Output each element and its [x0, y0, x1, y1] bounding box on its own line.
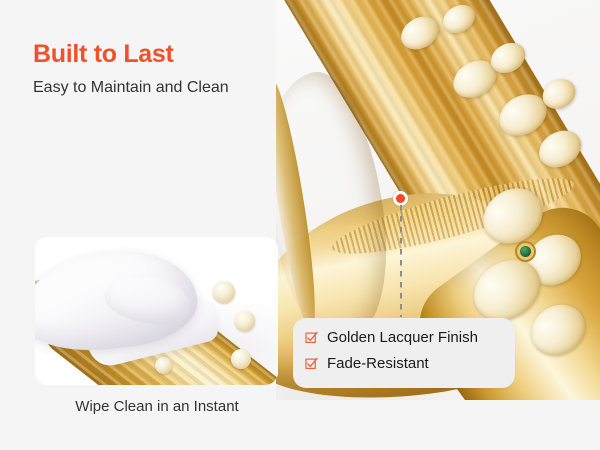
- wipe-photo-saxophone-key: [213, 281, 235, 303]
- feature-list-item-label: Fade-Resistant: [327, 356, 429, 371]
- wipe-photo-saxophone-key: [231, 349, 251, 369]
- saxophone-green-pearl-inlay: [520, 246, 531, 257]
- checkbox-checked-icon: [305, 331, 318, 344]
- wipe-clean-photo: [35, 237, 278, 385]
- feature-list-item: Golden Lacquer Finish: [305, 330, 478, 345]
- wipe-photo-saxophone-key: [155, 357, 172, 374]
- feature-list-item: Fade-Resistant: [305, 356, 429, 371]
- page-title: Built to Last: [33, 42, 174, 67]
- callout-leader-line: [400, 205, 402, 317]
- callout-marker-dot: [396, 194, 405, 203]
- wipe-photo-saxophone-key: [235, 311, 255, 331]
- feature-list-item-label: Golden Lacquer Finish: [327, 330, 478, 345]
- checkbox-checked-icon: [305, 357, 318, 370]
- feature-list-card: Golden Lacquer Finish Fade-Resistant: [293, 318, 515, 388]
- product-feature-banner: Built to Last Easy to Maintain and Clean…: [0, 0, 600, 450]
- page-subtitle: Easy to Maintain and Clean: [33, 78, 229, 97]
- wipe-clean-caption: Wipe Clean in an Instant: [0, 398, 314, 415]
